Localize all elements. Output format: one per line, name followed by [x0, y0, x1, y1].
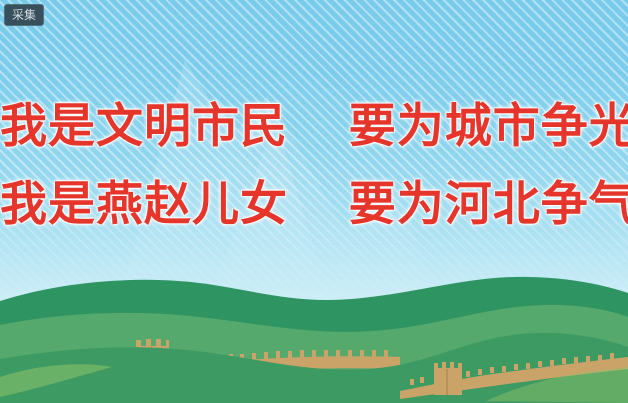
capture-button[interactable]: 采集 — [4, 4, 44, 26]
green-rolling-hills — [0, 273, 628, 403]
banner-image: 我是文明市民 要为城市争光 我是燕赵儿女 要为河北争气 采集 — [0, 0, 628, 403]
